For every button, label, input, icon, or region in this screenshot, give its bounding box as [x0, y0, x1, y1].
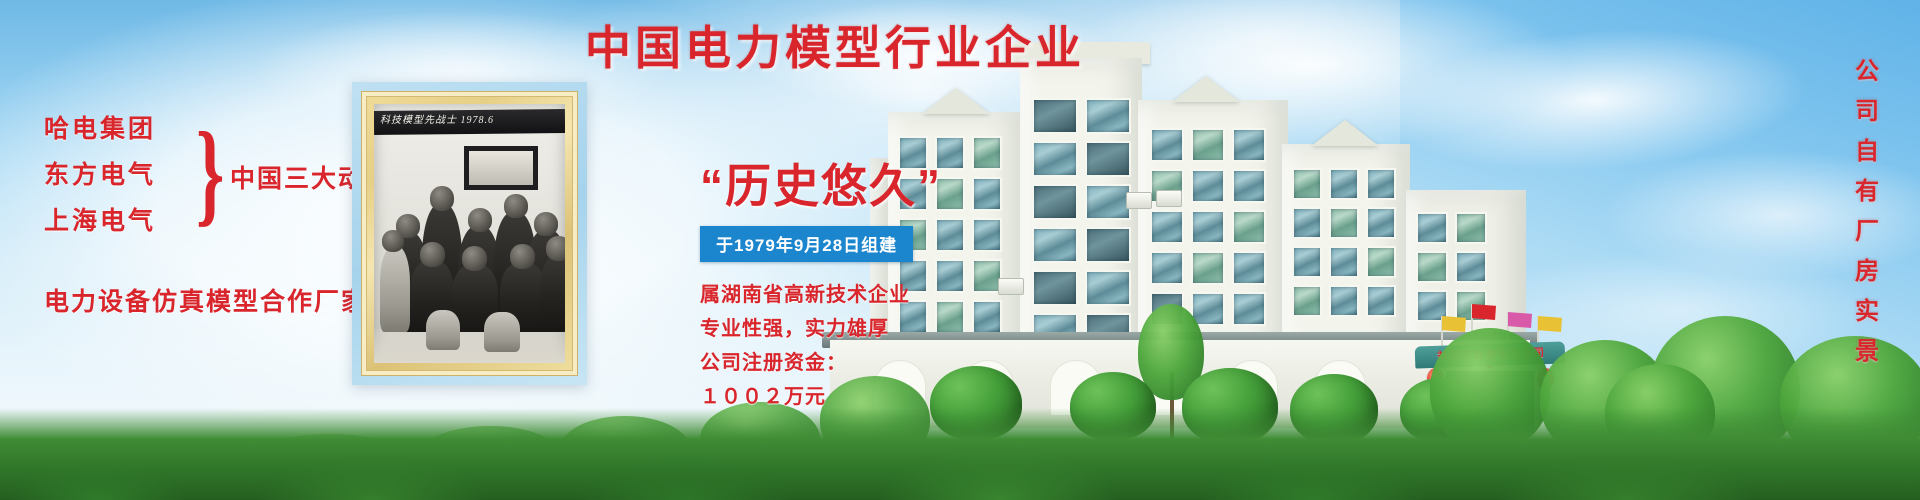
photo-person-head: [504, 194, 528, 218]
photo-person-seated: [426, 310, 460, 350]
window: [1032, 98, 1078, 134]
window: [1366, 168, 1396, 200]
window: [1032, 184, 1078, 220]
roof-gable: [1172, 76, 1240, 102]
roof-gable: [1311, 120, 1379, 146]
vertical-char: 景: [1846, 332, 1888, 372]
promo-banner: 益阳市鑫泰电力公司 中国电力模型行业企业 哈电集团: [0, 0, 1920, 500]
photo-person-head: [382, 230, 404, 252]
photo-gold-border: 科技模型先战士 1978.6: [361, 91, 578, 376]
fact-item: 专业性强，实力雄厚: [700, 312, 1000, 346]
window: [1232, 169, 1266, 203]
air-conditioner-unit: [1156, 190, 1182, 207]
photo-banner-text: 科技模型先战士 1978.6: [380, 111, 563, 126]
window: [1085, 98, 1131, 134]
vertical-char: 房: [1846, 252, 1888, 292]
window: [1455, 251, 1487, 283]
photo-blackboard: [464, 146, 538, 190]
photo-person: [540, 254, 565, 332]
company-facts-list: 属湖南省高新技术企业 专业性强，实力雄厚 公司注册资金： １００２万元: [700, 278, 1000, 414]
left-bottom-line: 电力设备仿真模型合作厂家: [44, 282, 368, 318]
window: [1292, 246, 1322, 278]
window: [1085, 227, 1131, 263]
window-grid: [1150, 128, 1266, 326]
window: [1032, 270, 1078, 306]
vertical-caption: 公 司 自 有 厂 房 实 景: [1846, 52, 1888, 372]
window: [1329, 207, 1359, 239]
historic-photo-frame: 科技模型先战士 1978.6: [352, 82, 587, 385]
historic-photo: 科技模型先战士 1978.6: [374, 104, 565, 363]
window: [1191, 210, 1225, 244]
left-text-block: 哈电集团 东方电气 上海电气 } 中国三大动力 电力设备仿真模型合作厂家: [44, 106, 364, 244]
photo-person-head: [546, 236, 565, 261]
window: [1292, 168, 1322, 200]
window: [1366, 246, 1396, 278]
window: [1191, 251, 1225, 285]
window: [1455, 212, 1487, 244]
photo-person-head: [430, 186, 454, 211]
history-quote: “历史悠久”: [700, 150, 1000, 216]
air-conditioner-unit: [998, 278, 1024, 295]
window: [1232, 251, 1266, 285]
window: [1150, 128, 1184, 162]
fact-item: 属湖南省高新技术企业: [700, 278, 1000, 312]
fact-item: １００２万元: [700, 380, 1000, 414]
window: [1032, 141, 1078, 177]
window: [1085, 184, 1131, 220]
window: [1416, 251, 1448, 283]
photo-person-head: [462, 246, 487, 271]
page-title: 中国电力模型行业企业: [0, 12, 1920, 78]
window: [1085, 270, 1131, 306]
window: [1232, 210, 1266, 244]
window: [1150, 251, 1184, 285]
photo-person-head: [420, 242, 445, 267]
vertical-char: 自: [1846, 132, 1888, 172]
window: [1150, 210, 1184, 244]
window: [1329, 168, 1359, 200]
vertical-char: 实: [1846, 292, 1888, 332]
photo-person-head: [510, 244, 535, 269]
curly-brace-icon: }: [196, 81, 224, 267]
vertical-char: 厂: [1846, 212, 1888, 252]
window: [1191, 169, 1225, 203]
window: [1292, 207, 1322, 239]
air-conditioner-unit: [1126, 192, 1152, 209]
vertical-char: 公: [1846, 52, 1888, 92]
photo-person-head: [534, 212, 558, 236]
window: [1191, 128, 1225, 162]
center-text-block: “历史悠久” 于1979年9月28日组建 属湖南省高新技术企业 专业性强，实力雄…: [700, 150, 1000, 414]
hedge-row: [0, 408, 1920, 500]
window: [1329, 246, 1359, 278]
photo-person-head: [468, 208, 492, 232]
window: [1032, 227, 1078, 263]
founding-date-badge: 于1979年9月28日组建: [700, 226, 913, 262]
fact-item: 公司注册资金：: [700, 346, 1000, 380]
company-list: 哈电集团 东方电气 上海电气 } 中国三大动力 电力设备仿真模型合作厂家: [44, 106, 364, 244]
roof-gable: [922, 88, 990, 114]
window: [1085, 141, 1131, 177]
photo-floor: [374, 329, 565, 363]
photo-person-seated: [484, 312, 520, 352]
vertical-char: 司: [1846, 92, 1888, 132]
window-grid: [1292, 168, 1396, 317]
window: [1416, 212, 1448, 244]
window: [1232, 128, 1266, 162]
vertical-char: 有: [1846, 172, 1888, 212]
window: [1366, 207, 1396, 239]
photo-person: [380, 246, 410, 332]
